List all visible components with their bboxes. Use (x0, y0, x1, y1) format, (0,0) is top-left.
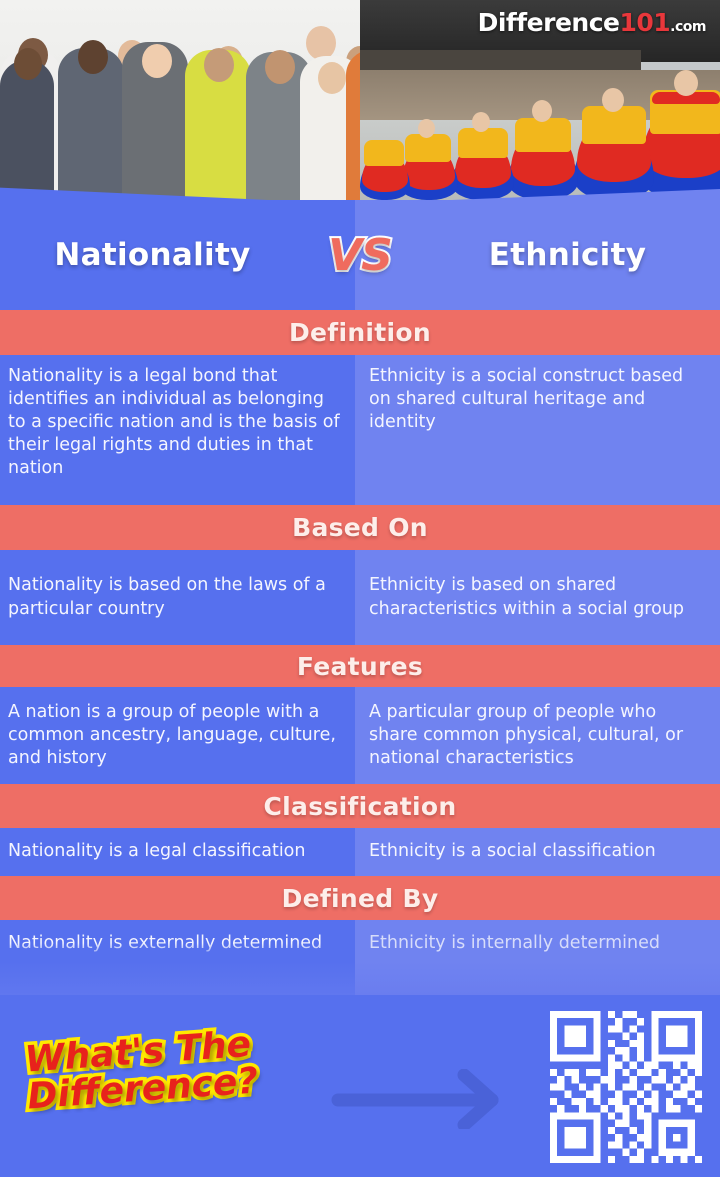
cell-ethnicity: Ethnicity is based on shared characteris… (355, 550, 720, 645)
site-logo: Difference101.com (478, 8, 706, 37)
header-photos: Difference101.com (0, 0, 720, 200)
section-body: Nationality is a legal bond that identif… (0, 355, 720, 505)
section-definition: Definition Nationality is a legal bond t… (0, 310, 720, 505)
whats-the-difference-label: What's The Difference? (24, 1023, 303, 1115)
title-band: Nationality VS Ethnicity (0, 200, 720, 310)
cell-ethnicity: Ethnicity is a social construct based on… (355, 355, 720, 505)
cell-ethnicity: Ethnicity is internally determined (355, 920, 720, 995)
title-left-nationality: Nationality (0, 237, 305, 273)
cell-nationality: Nationality is externally determined (0, 920, 355, 995)
footer-cta: What's The Difference? (0, 995, 720, 1172)
section-based-on: Based On Nationality is based on the law… (0, 505, 720, 645)
title-right-ethnicity: Ethnicity (415, 237, 720, 273)
section-heading: Classification (0, 784, 720, 828)
cell-nationality: Nationality is based on the laws of a pa… (0, 550, 355, 645)
section-body: Nationality is based on the laws of a pa… (0, 550, 720, 645)
section-defined-by: Defined By Nationality is externally det… (0, 876, 720, 995)
section-heading: Features (0, 645, 720, 687)
section-features: Features A nation is a group of people w… (0, 645, 720, 784)
section-body: A nation is a group of people with a com… (0, 687, 720, 784)
cell-ethnicity: A particular group of people who share c… (355, 687, 720, 784)
logo-main-text: Difference (478, 8, 620, 37)
section-heading: Based On (0, 505, 720, 550)
arrow-right-icon (330, 1069, 530, 1129)
logo-number: 101 (619, 8, 670, 37)
cell-nationality: Nationality is a legal classification (0, 828, 355, 876)
cell-nationality: A nation is a group of people with a com… (0, 687, 355, 784)
logo-tld: .com (670, 19, 706, 35)
qr-code[interactable] (550, 1011, 702, 1163)
cell-ethnicity: Ethnicity is a social classification (355, 828, 720, 876)
versus-badge: VS (305, 230, 415, 281)
section-body: Nationality is externally determined Eth… (0, 920, 720, 995)
photo-diverse-group (0, 0, 360, 200)
section-classification: Classification Nationality is a legal cl… (0, 784, 720, 876)
cell-nationality: Nationality is a legal bond that identif… (0, 355, 355, 505)
section-body: Nationality is a legal classification Et… (0, 828, 720, 876)
section-heading: Definition (0, 310, 720, 355)
section-heading: Defined By (0, 876, 720, 920)
infographic-page: Difference101.com Nationality VS Ethnici… (0, 0, 720, 1177)
